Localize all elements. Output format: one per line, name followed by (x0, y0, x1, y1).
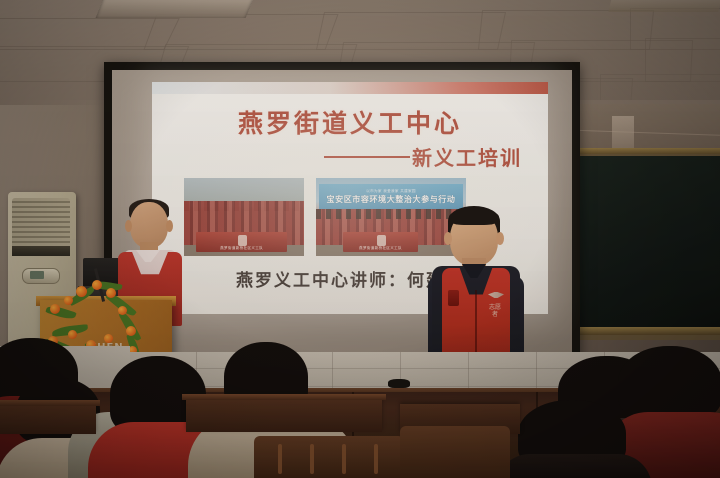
photo-left-banner-logo-icon (238, 235, 247, 246)
slide-subtitle-row: 新义工培训 (152, 142, 548, 171)
presenter-ear-right (496, 232, 504, 245)
photo-right-banner-text: 燕罗街道新桥社区义工队 (343, 246, 418, 251)
chair-back-right (400, 426, 510, 478)
desk-left (0, 404, 96, 434)
photo-right-banner-logo-icon (377, 235, 386, 246)
presenter-hair-front (449, 209, 499, 225)
slide-title: 燕罗街道义工中心 (152, 104, 548, 140)
object-on-stage (388, 379, 410, 388)
podium-person-ear-left (125, 220, 132, 232)
slide-photo-left: 燕罗街道新桥社区义工队 (184, 178, 304, 256)
ceiling-vent-secondary-icon (608, 0, 720, 12)
photo-left-banner: 燕罗街道新桥社区义工队 (196, 232, 287, 252)
audience-member-7 (502, 400, 632, 478)
desk-left-top (0, 400, 100, 406)
chair-back (254, 436, 404, 478)
slide-subtitle: 新义工培训 (412, 142, 522, 171)
photo-right-banner-text: 宝安区市容环境大整治大参与行动 (327, 194, 456, 205)
photo-left-banner-text: 燕罗街道新桥社区义工队 (196, 246, 287, 251)
air-conditioner-grille (12, 198, 70, 250)
presenter-ear-left (444, 232, 452, 245)
slide-header-band (152, 82, 548, 94)
photo-right-banner: 燕罗街道新桥社区义工队 (343, 232, 418, 252)
desk-top (182, 394, 386, 400)
podium-person-ear-right (166, 220, 173, 232)
presenter-vest-text: 志愿者 (488, 304, 502, 318)
photograph-scene: 燕罗街道义工中心 新义工培训 燕罗街道新桥社区义工队 以市为家 我爱我家 共建家… (0, 0, 720, 478)
air-conditioner-vent (12, 246, 70, 256)
slide-subtitle-rule (324, 156, 410, 158)
presenter-vest-patch (448, 290, 459, 306)
ceiling-vent-icon (96, 0, 255, 18)
desk-row (186, 398, 382, 432)
